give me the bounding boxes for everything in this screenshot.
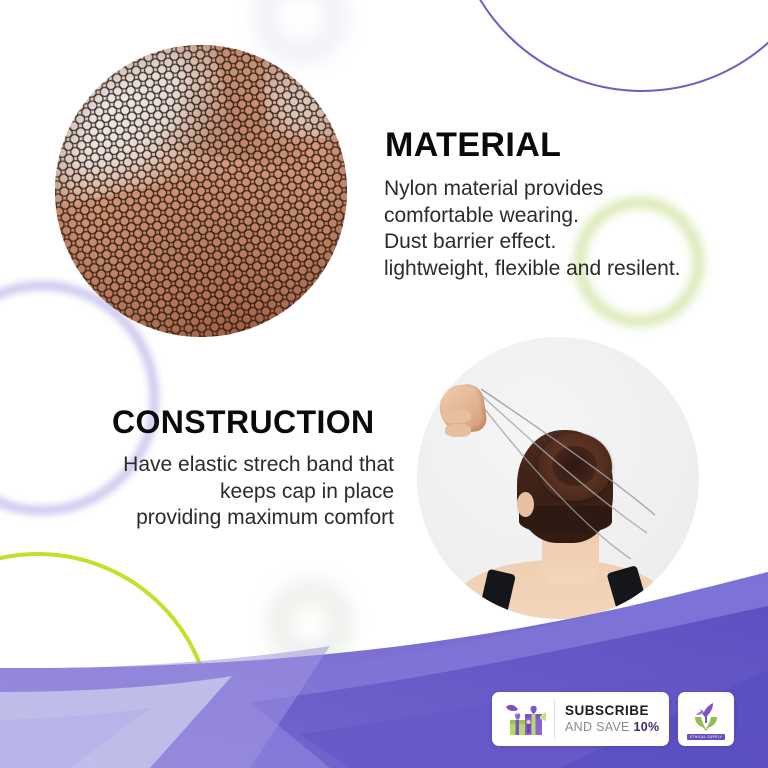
finger-1 bbox=[442, 410, 470, 423]
save-prefix: AND SAVE bbox=[565, 720, 633, 734]
gift-boxes-icon bbox=[492, 692, 554, 746]
finger-2 bbox=[445, 424, 470, 437]
construction-heading: CONSTRUCTION bbox=[112, 404, 375, 441]
logo-caption: ETHICAL SUPPLY bbox=[687, 734, 725, 740]
material-heading: MATERIAL bbox=[385, 126, 561, 165]
mesh-vignette bbox=[55, 45, 347, 337]
save-label: AND SAVE 10% bbox=[565, 719, 669, 735]
save-percent: 10% bbox=[633, 720, 659, 734]
badge-row: SUBSCRIBE AND SAVE 10% ETHICAL SUPPLY bbox=[492, 692, 734, 746]
logo-stack: ETHICAL SUPPLY bbox=[687, 699, 725, 740]
hummingbird-laurel-logo-icon bbox=[689, 699, 723, 733]
subscribe-text: SUBSCRIBE AND SAVE 10% bbox=[555, 703, 669, 735]
subscribe-badge[interactable]: SUBSCRIBE AND SAVE 10% bbox=[492, 692, 669, 746]
material-description: Nylon material provides comfortable wear… bbox=[384, 176, 764, 282]
material-photo bbox=[55, 45, 347, 337]
purple-circle-outline-icon bbox=[452, 0, 768, 92]
subscribe-label: SUBSCRIBE bbox=[565, 703, 669, 719]
brand-logo-badge[interactable]: ETHICAL SUPPLY bbox=[678, 692, 734, 746]
product-infographic-page: MATERIAL Nylon material provides comfort… bbox=[0, 0, 768, 768]
